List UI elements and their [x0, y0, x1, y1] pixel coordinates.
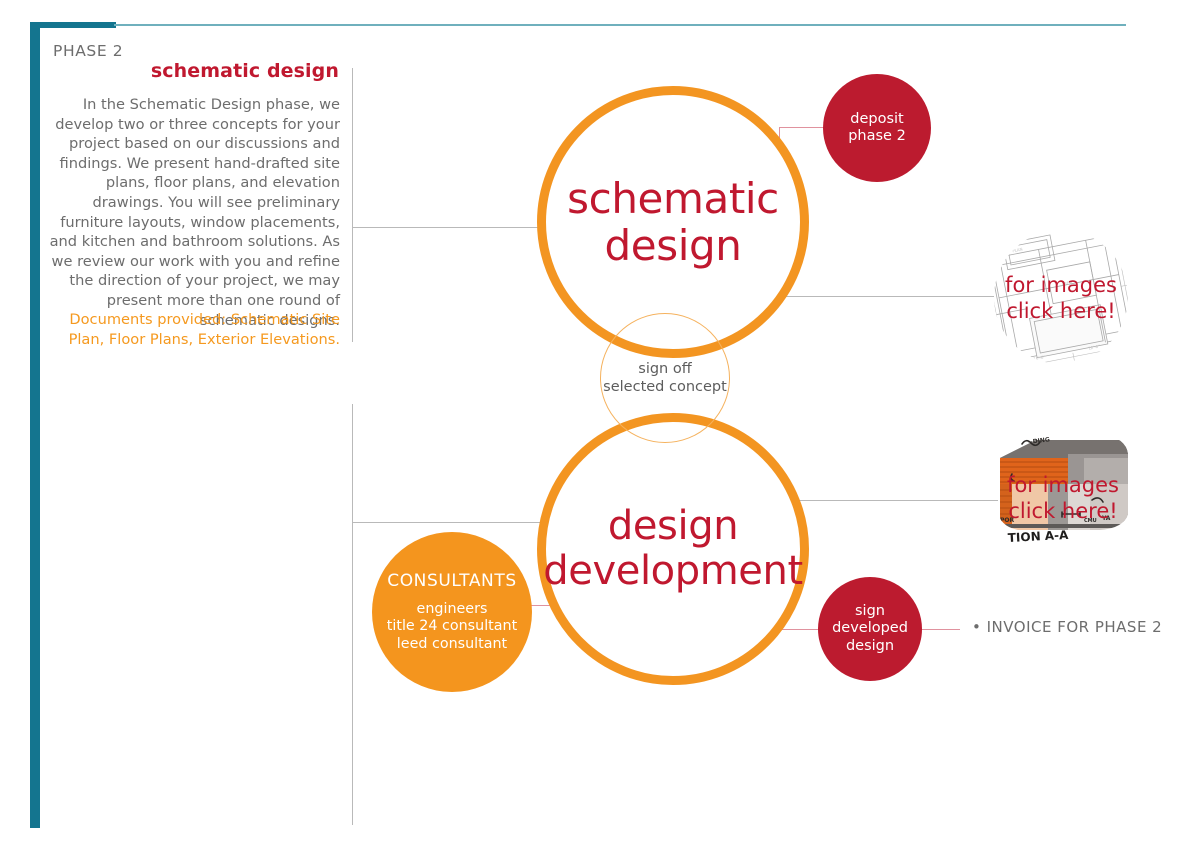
node-sign-off-selected-concept[interactable]: sign off selected concept: [600, 313, 730, 443]
svg-text:YA: YA: [1101, 515, 1111, 522]
diagram-canvas: PHASE 2 schematic design In the Schemati…: [0, 0, 1195, 865]
thumbnail-section-elevation[interactable]: ~DING YA CMU POR TION A-A for images cli…: [992, 428, 1134, 546]
connector-deposit-horizontal: [779, 127, 829, 128]
connector-sign-dd-to-invoice: [920, 629, 960, 630]
node-design-development[interactable]: design development: [537, 413, 809, 685]
svg-text:POR: POR: [1000, 517, 1014, 524]
node-deposit-phase-2[interactable]: deposit phase 2: [823, 74, 931, 182]
node-consultants-items: engineers title 24 consultant leed consu…: [387, 601, 517, 654]
node-sign-off-label: sign off selected concept: [603, 360, 727, 396]
section-drawing-label: TION A-A: [1007, 528, 1069, 545]
node-sign-developed-design[interactable]: sign developed design: [818, 577, 922, 681]
page-title: schematic design: [0, 60, 339, 82]
node-deposit-label: deposit phase 2: [848, 111, 906, 146]
connector-dd-to-section-image: [794, 500, 1006, 501]
node-schematic-design-label: schematic design: [567, 175, 779, 269]
node-consultants[interactable]: CONSULTANTS engineers title 24 consultan…: [372, 532, 532, 692]
node-sign-developed-design-label: sign developed design: [832, 603, 908, 656]
connector-schematic-stub: [352, 227, 542, 228]
connector-spine-dd: [352, 404, 353, 825]
section-elevation-drawing-icon: ~DING YA CMU POR TION A-A: [992, 428, 1134, 546]
svg-text:CMU: CMU: [1084, 518, 1097, 524]
phase-description: In the Schematic Design phase, we develo…: [38, 95, 340, 330]
top-rule: [114, 24, 1126, 26]
floor-plan-drawing-icon: PLAN AREA 12'-0" 16'-6": [992, 228, 1130, 366]
top-accent-bar: [30, 22, 116, 28]
thumbnail-schematic-site-plan[interactable]: PLAN AREA 12'-0" 16'-6" for images click…: [992, 228, 1130, 366]
phase-label: PHASE 2: [53, 42, 123, 60]
node-design-development-label: design development: [543, 504, 802, 594]
node-consultants-heading: CONSULTANTS: [387, 571, 517, 591]
documents-provided: Documents provided: Schematic Site Plan,…: [38, 310, 340, 349]
invoice-note: • INVOICE FOR PHASE 2: [972, 618, 1162, 636]
connector-schematic-to-plan-image: [772, 296, 1004, 297]
connector-dd-stub: [352, 522, 542, 523]
connector-spine-schematic: [352, 68, 353, 342]
